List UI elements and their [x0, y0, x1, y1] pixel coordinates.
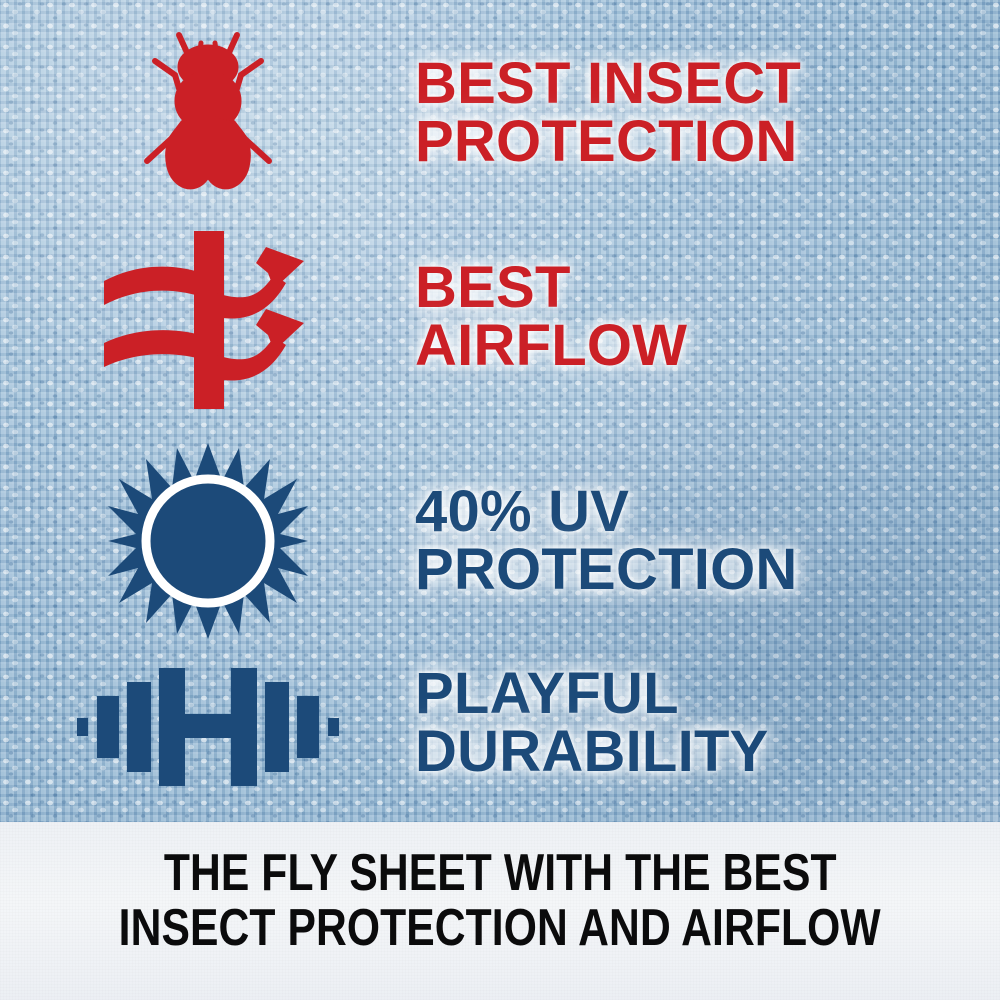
feature-text-line: PROTECTION [415, 541, 1000, 599]
feature-icon-cell [0, 21, 415, 201]
feature-text-line: BEST INSECT [415, 55, 1000, 113]
feature-row-insect: BEST INSECT PROTECTION [0, 18, 1000, 204]
dumbbell-durability-icon [75, 660, 341, 790]
caption-line-2: INSECT PROTECTION AND AIRFLOW [119, 901, 881, 956]
feature-icon-cell [0, 223, 415, 413]
feature-text-cell: 40% UV PROTECTION [415, 483, 1000, 599]
feature-text-line: PROTECTION [415, 113, 1000, 171]
fly-insect-icon [133, 21, 283, 201]
feature-text-line: 40% UV [415, 483, 1000, 541]
feature-text-line: BEST [415, 259, 1000, 317]
feature-row-uv: 40% UV PROTECTION [0, 436, 1000, 646]
feature-text-line: AIRFLOW [415, 317, 1000, 375]
feature-list: BEST INSECT PROTECTION [0, 0, 1000, 822]
feature-icon-cell [0, 660, 415, 790]
caption-bar: THE FLY SHEET WITH THE BEST INSECT PROTE… [0, 822, 1000, 1000]
feature-text-line: PLAYFUL [415, 665, 1000, 723]
infographic-root: BEST INSECT PROTECTION [0, 0, 1000, 1000]
feature-text-cell: PLAYFUL DURABILITY [415, 665, 1000, 781]
feature-text-cell: BEST INSECT PROTECTION [415, 51, 1000, 171]
airflow-arrows-icon [98, 223, 318, 413]
feature-text-line: DURABILITY [415, 723, 1000, 781]
feature-icon-cell [0, 441, 415, 641]
feature-text-cell: BEST AIRFLOW [415, 259, 1000, 375]
feature-row-durability: PLAYFUL DURABILITY [0, 650, 1000, 800]
sun-uv-icon [108, 441, 308, 641]
caption-line-1: THE FLY SHEET WITH THE BEST [164, 846, 837, 901]
feature-row-airflow: BEST AIRFLOW [0, 218, 1000, 418]
